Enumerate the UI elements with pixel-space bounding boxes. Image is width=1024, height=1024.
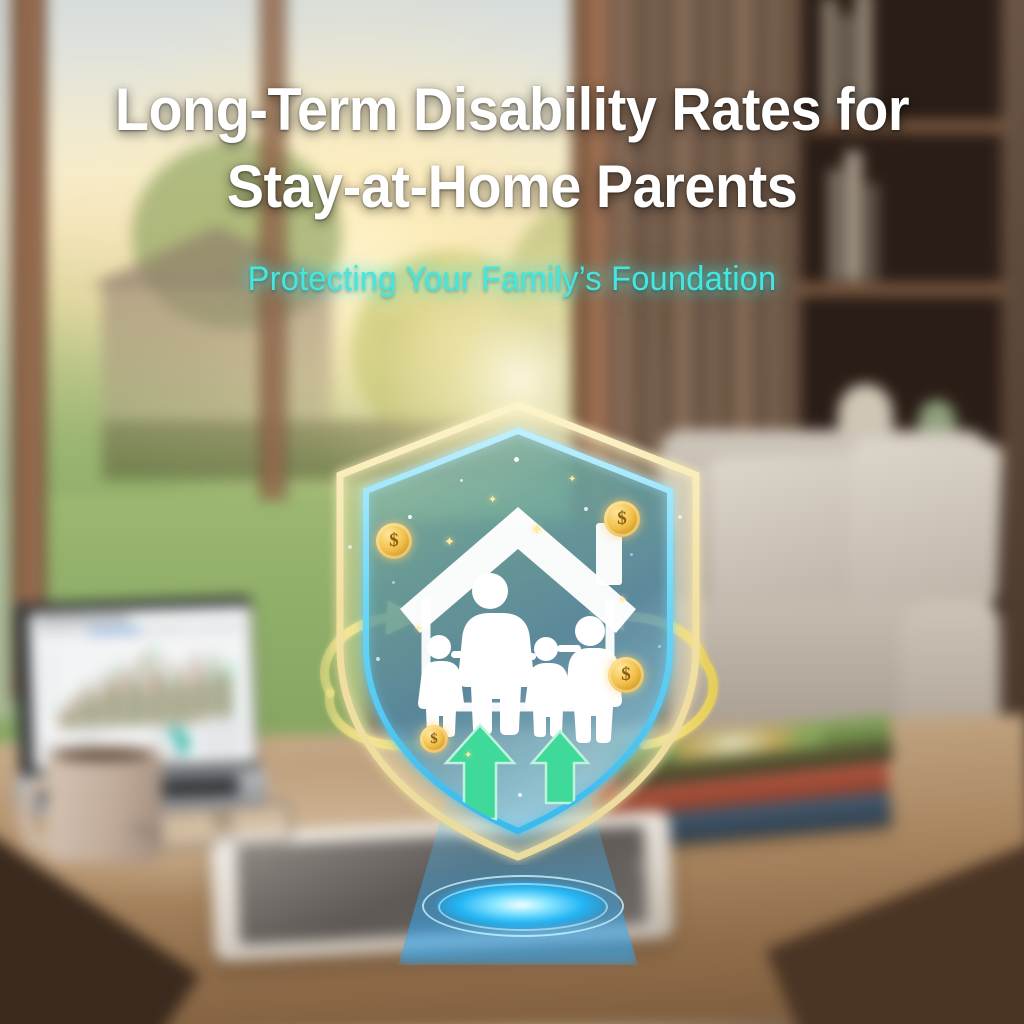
sparkle-star: ✦: [618, 595, 627, 606]
sparkle-dot: [658, 645, 661, 648]
sparkle-star: ✦: [568, 475, 576, 485]
sparkle-dot: [584, 507, 588, 511]
sparkle-dot: [518, 793, 522, 797]
eyeglasses: [155, 797, 298, 853]
mug-interior: [54, 748, 154, 761]
sparkle-star: ✦: [414, 625, 422, 635]
page-subtitle: Protecting Your Family’s Foundation: [20, 260, 1003, 299]
dollar-coin-icon: $: [376, 523, 412, 559]
sparkle-star: ✦: [464, 751, 472, 761]
dashboard-bar-chart: [56, 641, 235, 729]
glasses-lens-left: [155, 806, 222, 850]
sofa-cushion: [847, 437, 1003, 607]
dollar-coin-icon: $: [420, 725, 448, 753]
dollar-coin-icon: $: [608, 657, 644, 693]
sparkle-dot: [460, 479, 463, 482]
dashboard-bar: [59, 715, 62, 729]
poster-canvas: ✦ ✦ ✦ ✦ ✦ ✦ ✦ $ $ $ $: [0, 0, 1024, 1024]
dashboard-bar: [65, 708, 68, 728]
sparkle-star: ✦: [444, 535, 455, 548]
page-title-line-2: Stay-at-Home Parents: [36, 149, 988, 226]
dashboard-bar: [77, 695, 80, 728]
shield-graphic: ✦ ✦ ✦ ✦ ✦ ✦ ✦ $ $ $ $: [318, 395, 718, 865]
dashboard-bar: [99, 697, 102, 727]
dashboard-bar: [230, 661, 234, 723]
dashboard-title-bar: [37, 616, 129, 624]
page-title: Long-Term Disability Rates for Stay-at-H…: [36, 72, 988, 226]
dollar-coin-icon: $: [604, 501, 640, 537]
sparkle-dot: [392, 581, 395, 584]
sparkle-dot: [428, 695, 432, 699]
sparkle-dot: [604, 715, 607, 718]
sparkle-dot: [630, 553, 633, 556]
sparkle-dot: [408, 515, 412, 519]
sparkle-star: ✦: [488, 495, 497, 506]
glasses-lens-right: [227, 801, 294, 845]
sparkle-dot: [678, 515, 682, 519]
sparkle-dot: [376, 657, 380, 661]
projector-ring-outline: [438, 883, 608, 931]
sparkle-star: ✦: [530, 523, 543, 539]
hologram-projection: ✦ ✦ ✦ ✦ ✦ ✦ ✦ $ $ $ $: [318, 395, 718, 915]
sparkle-dot: [514, 457, 519, 462]
dashboard-bar: [120, 669, 124, 727]
coffee-mug: [46, 750, 162, 862]
dashboard-bar: [80, 704, 83, 728]
sparkle-dot: [348, 545, 352, 549]
page-title-line-1: Long-Term Disability Rates for: [36, 72, 988, 149]
